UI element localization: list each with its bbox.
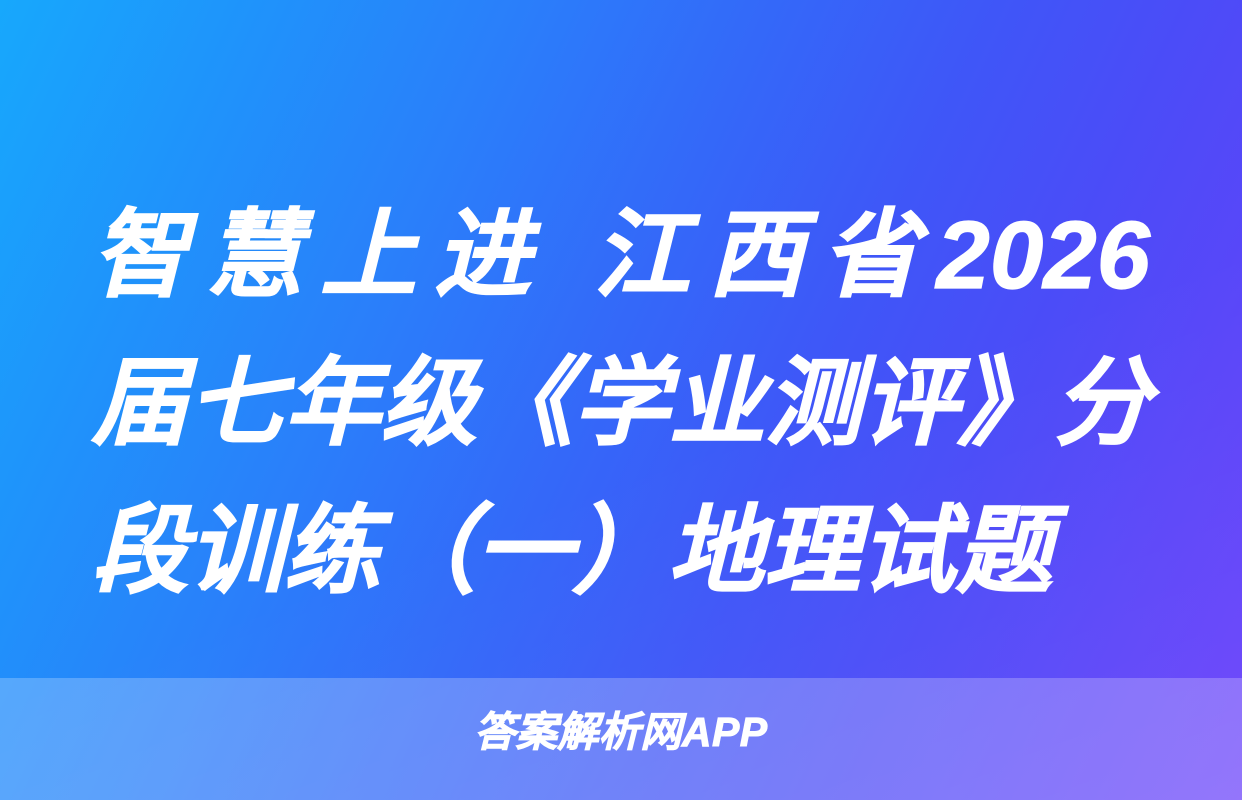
title-line-3: 段训练（一）地理试题 (92, 478, 1150, 626)
poster-title: 智慧上进 江西省2026 届七年级《学业测评》分 段训练（一）地理试题 (92, 182, 1150, 626)
watermark: 答案解析网APP (0, 704, 1242, 760)
poster-card: 智慧上进 江西省2026 届七年级《学业测评》分 段训练（一）地理试题 答案解析… (0, 0, 1242, 800)
watermark-label: 答案解析网APP (474, 712, 767, 753)
title-line-2: 届七年级《学业测评》分 (92, 330, 1150, 478)
title-line-1: 智慧上进 江西省2026 (92, 182, 1150, 330)
